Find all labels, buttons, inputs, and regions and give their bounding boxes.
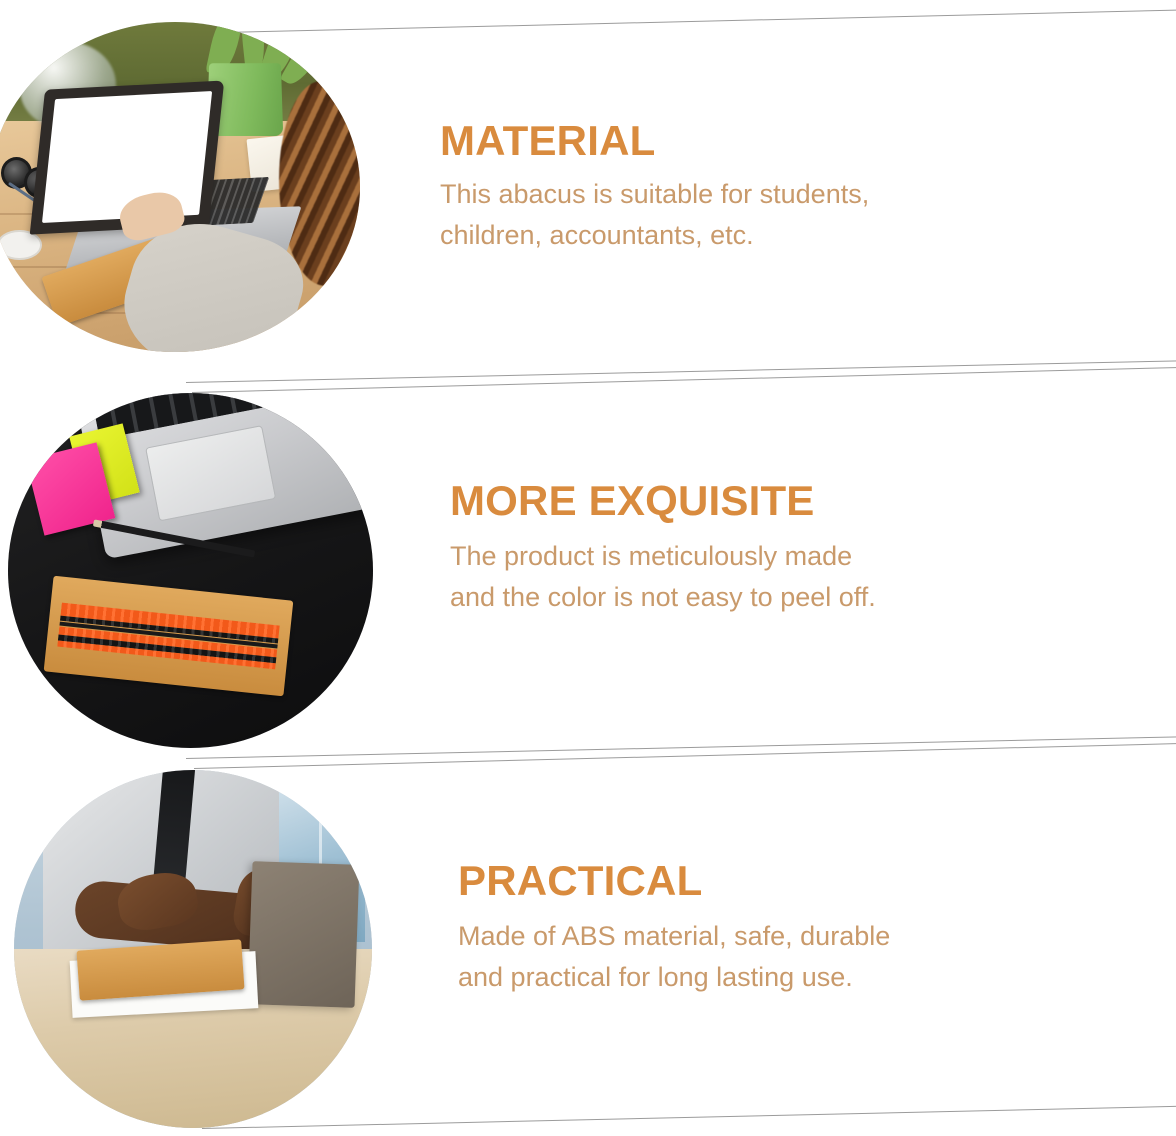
feature-description-line: and the color is not easy to peel off.	[450, 577, 1070, 618]
scene3-laptop-screen	[248, 861, 360, 1008]
scene-businessman-desk	[14, 770, 372, 1128]
scene-desk-laptop-plant	[0, 22, 360, 352]
abacus-bead-row-dark	[89, 965, 232, 975]
feature-heading-practical: PRACTICAL	[458, 858, 1078, 904]
feature-block-more-exquisite: MORE EXQUISITE The product is meticulous…	[0, 378, 1176, 758]
scene1-white-cup	[0, 230, 42, 260]
feature-image-material	[0, 22, 360, 352]
feature-text-material: MATERIAL This abacus is suitable for stu…	[440, 118, 1060, 256]
feature-block-material: MATERIAL This abacus is suitable for stu…	[0, 0, 1176, 378]
abacus-bead-row-upper	[89, 965, 232, 975]
feature-description-material: This abacus is suitable for students, ch…	[440, 174, 1060, 256]
scene2-laptop-keyboard	[90, 393, 344, 439]
feature-image-practical	[14, 770, 372, 1128]
feature-description-line: The product is meticulously made	[450, 536, 1070, 577]
feature-description-line: and practical for long lasting use.	[458, 957, 1078, 998]
abacus-center-bar	[89, 965, 232, 975]
feature-description-more-exquisite: The product is meticulously made and the…	[450, 536, 1070, 618]
feature-heading-material: MATERIAL	[440, 118, 1060, 164]
feature-image-more-exquisite	[8, 393, 373, 748]
feature-block-practical: PRACTICAL Made of ABS material, safe, du…	[0, 758, 1176, 1136]
feature-description-line: This abacus is suitable for students,	[440, 174, 1060, 215]
infographic-page: MATERIAL This abacus is suitable for stu…	[0, 0, 1176, 1136]
scene-black-desk-topdown	[8, 393, 373, 748]
scene3-abacus-rows	[89, 965, 232, 975]
feature-text-more-exquisite: MORE EXQUISITE The product is meticulous…	[450, 478, 1070, 618]
feature-description-line: children, accountants, etc.	[440, 215, 1060, 256]
feature-description-line: Made of ABS material, safe, durable	[458, 916, 1078, 957]
scene2-abacus-rows	[57, 602, 279, 669]
scene2-laptop-trackpad	[146, 425, 277, 521]
feature-description-practical: Made of ABS material, safe, durable and …	[458, 916, 1078, 998]
abacus-bead-row-lower	[89, 965, 232, 975]
feature-text-practical: PRACTICAL Made of ABS material, safe, du…	[458, 858, 1078, 998]
feature-heading-more-exquisite: MORE EXQUISITE	[450, 478, 1070, 524]
